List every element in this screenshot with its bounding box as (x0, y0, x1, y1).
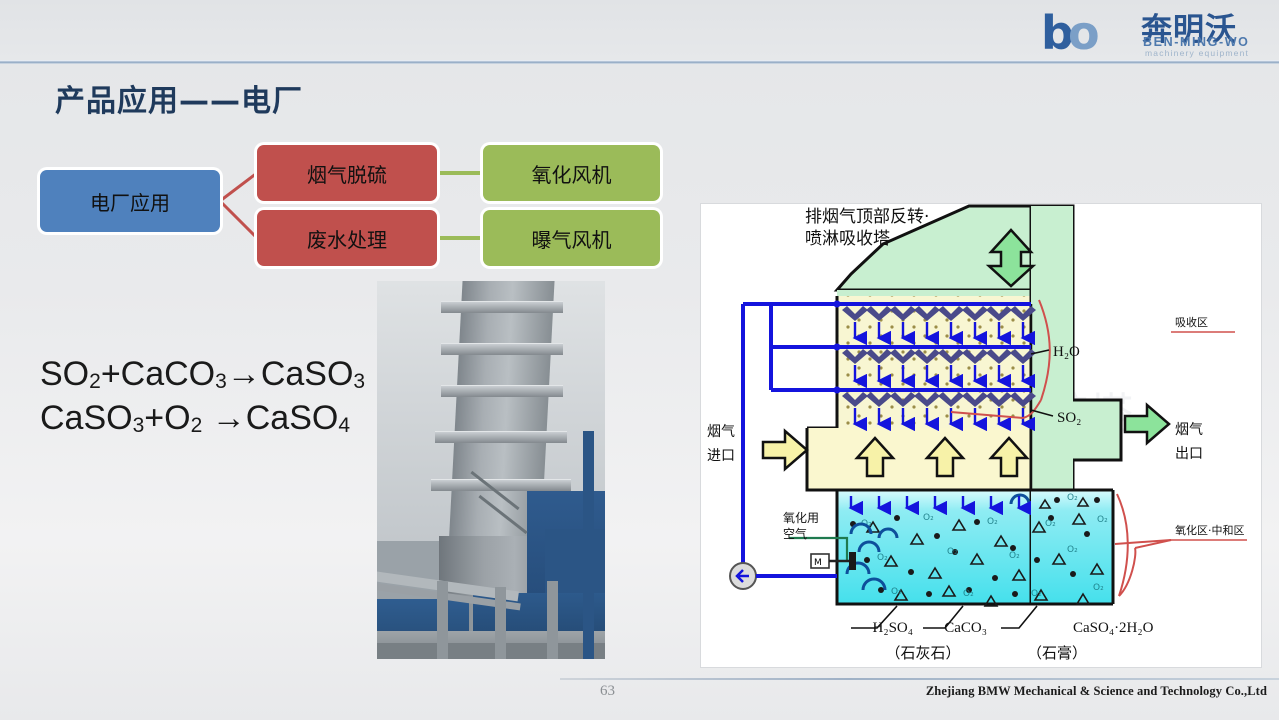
logo-english-name: BEN-MING-WO (1143, 35, 1249, 49)
svg-text:O₂: O₂ (1067, 545, 1078, 555)
label-outlet-line-1: 烟气 (1175, 422, 1203, 438)
equation-line-2: CaSO3+O2 →CaSO4 (40, 396, 365, 440)
flow-box-source[interactable]: 电厂应用 (40, 170, 220, 232)
header-divider (0, 60, 1279, 64)
svg-text:O₂: O₂ (1097, 515, 1108, 525)
absorber-diagram: 脱硫塔 O₂O₂O₂ O₂O₂O₂ (700, 203, 1262, 668)
logo-tagline: machinery equipment (1145, 48, 1249, 58)
logo-mark-icon: bo (1041, 6, 1094, 60)
flow-box-process-1-label: 烟气脱硫 (307, 159, 387, 188)
label-zone-oxidation: 氧化区·中和区 (1175, 523, 1245, 537)
svg-text:O₂: O₂ (923, 513, 934, 523)
flow-box-equipment-2[interactable]: 曝气风机 (483, 210, 660, 266)
photo-tower-ring (441, 301, 563, 313)
inlet-arrow-icon (763, 431, 807, 469)
svg-text:O₂: O₂ (891, 587, 902, 597)
diagram-title-line-2: 喷淋吸收塔 (805, 229, 890, 249)
company-footer-text: Zhejiang BMW Mechanical & Science and Te… (926, 684, 1267, 699)
flow-box-equipment-1-label: 氧化风机 (532, 159, 612, 188)
footer-divider (560, 678, 1279, 680)
flow-box-equipment-2-label: 曝气风机 (532, 224, 612, 253)
photo-tower-ring (435, 431, 567, 443)
svg-text:O₂: O₂ (1009, 551, 1020, 561)
chemical-equations: SO2+CaCO3→CaSO3 CaSO3+O2 →CaSO4 (40, 352, 365, 440)
label-caso4: CaSO₄·2H₂O (1073, 620, 1154, 636)
flow-box-equipment-1[interactable]: 氧化风机 (483, 145, 660, 201)
label-so2: SO₂ (1057, 410, 1081, 426)
flow-chart: 电厂应用 烟气脱硫 废水处理 氧化风机 曝气风机 (35, 140, 675, 280)
page-number: 63 (600, 683, 615, 700)
flow-box-process-1[interactable]: 烟气脱硫 (257, 145, 437, 201)
label-inlet-line-1: 烟气 (707, 424, 735, 440)
svg-text:O₂: O₂ (1045, 519, 1056, 529)
label-caso4-note: （石膏） (1027, 644, 1087, 662)
photo-tower-ring (431, 479, 571, 491)
photo-column (583, 431, 594, 659)
plant-photo (377, 281, 605, 659)
svg-text:O₂: O₂ (947, 547, 958, 557)
label-inlet-line-2: 进口 (707, 448, 735, 464)
page-title: 产品应用——电厂 (55, 76, 303, 120)
svg-text:M: M (814, 558, 822, 568)
sparger-icon: M (811, 552, 856, 570)
label-caco3-note: （石灰石） (885, 644, 960, 662)
svg-text:O₂: O₂ (1067, 493, 1078, 503)
svg-text:O₂: O₂ (1093, 583, 1104, 593)
diagram-title-line-1: 排烟气顶部反转· (805, 207, 929, 227)
flow-box-process-2-label: 废水处理 (307, 224, 387, 253)
photo-tower-ring (441, 343, 563, 355)
photo-column (547, 581, 558, 659)
svg-text:O₂: O₂ (877, 553, 888, 563)
absorber-diagram-svg: 脱硫塔 O₂O₂O₂ O₂O₂O₂ (701, 204, 1259, 665)
company-logo: bo 奔明沃 BEN-MING-WO machinery equipment (1037, 2, 1269, 60)
flow-box-source-label: 电厂应用 (90, 187, 170, 216)
flow-box-process-2[interactable]: 废水处理 (257, 210, 437, 266)
photo-ground (377, 643, 605, 659)
label-zone-absorption: 吸收区 (1175, 315, 1208, 329)
label-h2o: H₂O (1053, 344, 1080, 360)
photo-column (495, 587, 506, 659)
svg-text:O₂: O₂ (987, 517, 998, 527)
label-oxidation-air-line-1: 氧化用 (783, 511, 819, 525)
label-caco3: CaCO₃ (944, 620, 987, 636)
photo-tower-ring (441, 385, 563, 397)
svg-text:O₂: O₂ (963, 589, 974, 599)
photo-column (437, 581, 448, 659)
label-h2so4: H₂SO₄ (873, 620, 913, 636)
equation-line-1: SO2+CaCO3→CaSO3 (40, 352, 365, 396)
label-oxidation-air-line-2: 空气 (783, 526, 807, 541)
svg-text:O₂: O₂ (1031, 589, 1042, 599)
label-outlet-line-2: 出口 (1175, 446, 1203, 462)
